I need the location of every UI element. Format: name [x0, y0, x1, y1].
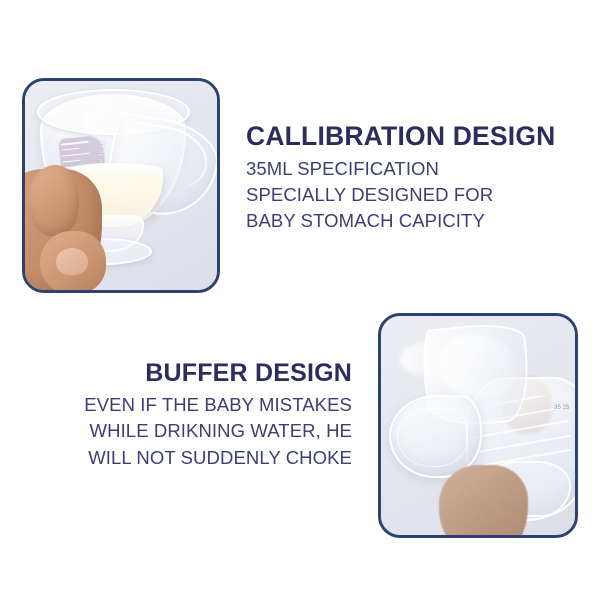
feature-body-line: 35ML SPECIFICATION	[246, 156, 576, 182]
buffer-spoon-inner-edge	[397, 408, 469, 467]
feature-body-line: WILL NOT SUDDENLY CHOKE	[22, 445, 352, 471]
product-photo-frame-calibration: ml 35 25	[22, 78, 220, 293]
feature-text-buffer: BUFFER DESIGN EVEN IF THE BABY MISTAKES …	[22, 360, 352, 471]
feature-body-line: SPECIALLY DESIGNED FOR	[246, 182, 576, 208]
feature-body-line: EVEN IF THE BABY MISTAKES	[22, 392, 352, 418]
product-photo-buffer: 35 25	[381, 316, 575, 535]
fingernail	[56, 248, 89, 275]
infographic-canvas: ml 35 25 CALLIBRATION DESIGN 35ML SPECIF…	[0, 0, 600, 600]
hand	[439, 465, 528, 535]
highlight-gloss	[400, 342, 458, 377]
thumb	[29, 165, 79, 236]
feature-body-line: BABY STOMACH CAPICITY	[246, 208, 576, 234]
product-photo-calibration: ml 35 25	[25, 81, 217, 290]
feature-heading-buffer: BUFFER DESIGN	[22, 360, 352, 387]
feature-text-calibration: CALLIBRATION DESIGN 35ML SPECIFICATION S…	[246, 122, 576, 234]
product-photo-frame-buffer: 35 25	[378, 313, 578, 538]
highlight-gloss	[83, 102, 148, 140]
feature-body-line: WHILE DRIKNING WATER, HE	[22, 418, 352, 444]
measurement-scale-label: 35 25	[554, 404, 569, 413]
feature-heading-calibration: CALLIBRATION DESIGN	[246, 122, 576, 151]
